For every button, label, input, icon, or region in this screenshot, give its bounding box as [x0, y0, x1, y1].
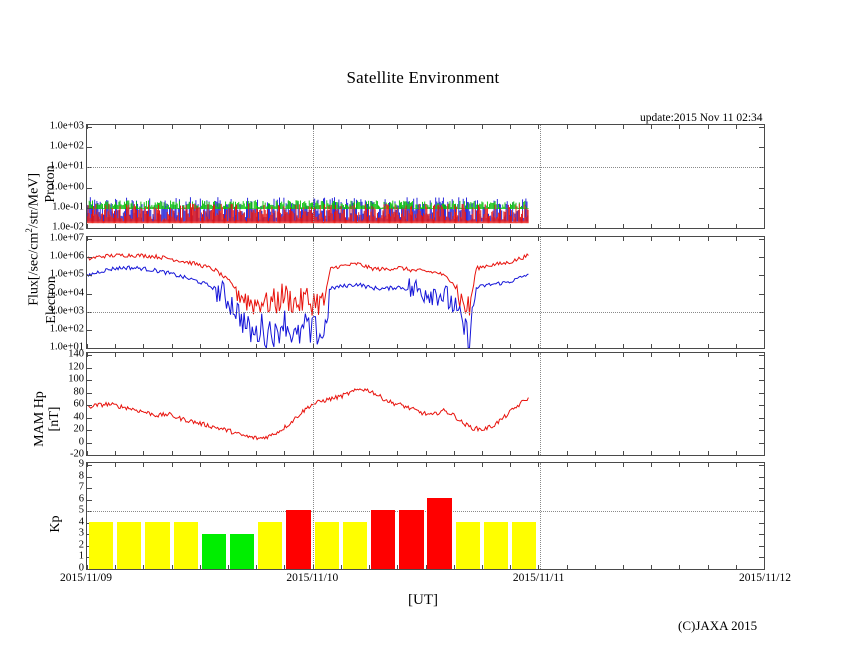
y-tick-mark: [87, 500, 92, 501]
y-tick-label: 9: [79, 459, 84, 470]
x-tick-mark: [567, 125, 568, 129]
y-tick-mark: [87, 368, 92, 369]
y-tick-label: 120: [68, 361, 84, 372]
x-tick-mark: [256, 125, 257, 129]
x-tick-mark: [426, 565, 427, 569]
flux-axis-label: Flux[/sec/cm2/str/MeV]: [24, 144, 43, 334]
x-tick-mark: [115, 353, 116, 357]
y-tick-label: 1.0e+00: [50, 181, 84, 192]
mam-axis-text: MAM Hp: [32, 391, 47, 447]
x-tick-mark: [510, 463, 511, 467]
y-tick-mark: [87, 275, 92, 276]
x-tick-mark: [200, 565, 201, 569]
x-tick-mark: [87, 344, 88, 348]
x-tick-mark: [623, 353, 624, 357]
x-tick-mark: [256, 237, 257, 241]
x-tick-mark: [454, 237, 455, 241]
x-tick-mark: [595, 353, 596, 357]
x-tick-mark: [256, 344, 257, 348]
x-tick-mark: [482, 463, 483, 467]
day-gridline: [540, 125, 541, 228]
y-tick-mark: [87, 443, 92, 444]
x-tick-mark: [341, 353, 342, 357]
x-tick-mark: [115, 451, 116, 455]
x-tick-mark: [369, 344, 370, 348]
y-tick-label: 3: [79, 528, 84, 539]
x-tick-mark: [115, 463, 116, 467]
kp-bar: [174, 522, 198, 569]
x-tick-mark: [426, 353, 427, 357]
y-tick-mark: [87, 330, 92, 331]
x-tick-mark: [679, 237, 680, 241]
y-tick-label: 1.0e-01: [52, 201, 84, 212]
x-tick-mark: [482, 125, 483, 129]
x-tick-mark: [369, 565, 370, 569]
x-tick-mark: [538, 125, 539, 129]
y-tick-label: 1.0e+02: [50, 323, 84, 334]
kp-bar: [343, 522, 367, 569]
x-tick-mark: [454, 353, 455, 357]
x-tick-mark: [426, 125, 427, 129]
x-tick-mark: [341, 565, 342, 569]
y-tick-label: 60: [74, 399, 85, 410]
x-tick-mark: [397, 344, 398, 348]
y-tick-mark: [759, 557, 764, 558]
y-tick-label: 6: [79, 493, 84, 504]
kp-bar: [145, 522, 169, 569]
x-tick-mark: [736, 565, 737, 569]
x-tick-mark: [651, 463, 652, 467]
y-tick-label: 1: [79, 551, 84, 562]
x-tick-mark: [426, 463, 427, 467]
x-tick-mark: [256, 451, 257, 455]
y-tick-mark: [759, 208, 764, 209]
x-tick-mark: [200, 353, 201, 357]
x-tick-mark: [172, 463, 173, 467]
x-tick-mark: [679, 451, 680, 455]
x-tick-mark: [87, 237, 88, 241]
x-tick-mark: [143, 224, 144, 228]
x-tick-mark: [651, 565, 652, 569]
y-tick-label: 1.0e+06: [50, 251, 84, 262]
x-tick-mark: [538, 237, 539, 241]
x-tick-mark: [708, 125, 709, 129]
x-tick-mark: [228, 224, 229, 228]
x-tick-mark: [369, 237, 370, 241]
x-tick-mark: [510, 344, 511, 348]
y-tick-label: 100: [68, 374, 84, 385]
x-tick-mark: [708, 451, 709, 455]
x-tick-mark: [256, 224, 257, 228]
mam-panel: [86, 352, 765, 456]
y-tick-mark: [759, 275, 764, 276]
x-tick-mark: [679, 344, 680, 348]
value-gridline: [87, 312, 764, 313]
x-tick-label: 2015/11/10: [286, 572, 338, 584]
x-tick-mark: [708, 463, 709, 467]
y-tick-mark: [87, 488, 92, 489]
x-tick-mark: [87, 353, 88, 357]
y-tick-mark: [759, 523, 764, 524]
x-tick-mark: [313, 565, 314, 569]
x-tick-mark: [369, 125, 370, 129]
y-tick-label: 4: [79, 516, 84, 527]
y-tick-mark: [87, 294, 92, 295]
data-trace: [87, 389, 528, 440]
flux-axis-text: Flux[/sec/cm2/str/MeV]: [26, 173, 41, 306]
x-tick-mark: [538, 451, 539, 455]
x-tick-mark: [595, 125, 596, 129]
x-tick-mark: [567, 451, 568, 455]
x-tick-mark: [313, 463, 314, 467]
copyright-notice: (C)JAXA 2015: [678, 618, 757, 634]
x-tick-mark: [736, 451, 737, 455]
x-tick-mark: [651, 125, 652, 129]
x-tick-mark: [143, 353, 144, 357]
x-tick-mark: [651, 224, 652, 228]
y-tick-mark: [87, 430, 92, 431]
x-tick-mark: [538, 344, 539, 348]
x-tick-mark: [284, 237, 285, 241]
x-tick-mark: [200, 125, 201, 129]
x-tick-mark: [482, 344, 483, 348]
x-tick-mark: [341, 125, 342, 129]
mam-axis-label: MAM Hp [nT]: [32, 364, 62, 474]
y-tick-mark: [759, 418, 764, 419]
x-tick-mark: [651, 237, 652, 241]
x-tick-mark: [454, 463, 455, 467]
x-tick-mark: [172, 344, 173, 348]
value-gridline: [87, 167, 764, 168]
x-tick-mark: [736, 353, 737, 357]
x-tick-mark: [510, 565, 511, 569]
x-tick-mark: [228, 565, 229, 569]
x-tick-mark: [736, 125, 737, 129]
x-tick-mark: [313, 353, 314, 357]
x-tick-mark: [397, 125, 398, 129]
x-tick-mark: [397, 451, 398, 455]
x-tick-mark: [567, 353, 568, 357]
x-tick-mark: [284, 451, 285, 455]
x-tick-mark: [736, 224, 737, 228]
x-tick-mark: [200, 451, 201, 455]
x-tick-mark: [623, 125, 624, 129]
x-tick-label: 2015/11/11: [513, 572, 565, 584]
x-tick-mark: [341, 344, 342, 348]
x-tick-mark: [708, 224, 709, 228]
x-tick-mark: [538, 565, 539, 569]
x-tick-mark: [256, 565, 257, 569]
y-tick-mark: [759, 405, 764, 406]
x-tick-mark: [510, 125, 511, 129]
kp-bar: [456, 522, 480, 569]
proton-panel: [86, 124, 765, 229]
x-tick-mark: [426, 224, 427, 228]
x-tick-mark: [228, 125, 229, 129]
y-tick-label: 1.0e+04: [50, 287, 84, 298]
x-tick-mark: [454, 224, 455, 228]
y-tick-label: 40: [74, 411, 85, 422]
x-tick-mark: [623, 224, 624, 228]
x-tick-mark: [595, 224, 596, 228]
y-tick-label: 1.0e+07: [50, 233, 84, 244]
kp-bar: [512, 522, 536, 569]
x-tick-mark: [736, 237, 737, 241]
x-tick-mark: [426, 237, 427, 241]
x-tick-mark: [143, 344, 144, 348]
x-tick-mark: [482, 565, 483, 569]
x-tick-mark: [143, 451, 144, 455]
kp-bar: [399, 510, 423, 569]
x-tick-mark: [143, 565, 144, 569]
x-tick-mark: [143, 463, 144, 467]
x-tick-mark: [651, 344, 652, 348]
y-tick-mark: [759, 546, 764, 547]
x-tick-mark: [482, 353, 483, 357]
x-tick-mark: [651, 353, 652, 357]
x-tick-mark: [538, 224, 539, 228]
y-tick-label: 7: [79, 482, 84, 493]
x-tick-mark: [284, 125, 285, 129]
x-tick-mark: [313, 125, 314, 129]
y-tick-label: 20: [74, 424, 85, 435]
y-tick-mark: [87, 147, 92, 148]
y-tick-label: 1.0e+02: [50, 141, 84, 152]
x-tick-mark: [510, 237, 511, 241]
y-tick-label: 80: [74, 386, 85, 397]
y-tick-mark: [759, 393, 764, 394]
x-tick-mark: [172, 451, 173, 455]
x-tick-mark: [679, 224, 680, 228]
kp-bar: [484, 522, 508, 569]
x-tick-mark: [115, 344, 116, 348]
y-tick-label: 2: [79, 539, 84, 550]
x-tick-mark: [341, 463, 342, 467]
x-tick-mark: [200, 224, 201, 228]
x-tick-mark: [708, 565, 709, 569]
kp-axis-label: Kp: [48, 504, 64, 544]
y-tick-mark: [759, 534, 764, 535]
y-tick-label: 1.0e+01: [50, 161, 84, 172]
y-tick-mark: [87, 380, 92, 381]
y-tick-mark: [759, 294, 764, 295]
x-tick-mark: [200, 344, 201, 348]
x-tick-mark: [284, 224, 285, 228]
y-tick-mark: [759, 368, 764, 369]
plot-canvas: [87, 353, 764, 455]
y-tick-mark: [759, 257, 764, 258]
y-tick-label: 8: [79, 470, 84, 481]
x-tick-mark: [87, 463, 88, 467]
kp-bar: [230, 534, 254, 569]
y-tick-label: 0: [79, 436, 84, 447]
y-tick-mark: [87, 393, 92, 394]
x-tick-mark: [200, 463, 201, 467]
update-timestamp: update:2015 Nov 11 02:34: [640, 112, 763, 124]
x-tick-mark: [200, 237, 201, 241]
kp-panel: [86, 462, 765, 570]
x-tick-mark: [143, 125, 144, 129]
kp-bar: [117, 522, 141, 569]
x-tick-mark: [284, 353, 285, 357]
x-tick-mark: [538, 463, 539, 467]
y-tick-mark: [759, 488, 764, 489]
x-tick-mark: [369, 451, 370, 455]
x-tick-mark: [651, 451, 652, 455]
x-tick-mark: [284, 344, 285, 348]
y-tick-label: 1.0e+03: [50, 121, 84, 132]
x-tick-mark: [482, 224, 483, 228]
x-tick-mark: [284, 565, 285, 569]
x-tick-mark: [115, 125, 116, 129]
x-tick-mark: [228, 451, 229, 455]
x-tick-mark: [397, 565, 398, 569]
day-gridline: [313, 237, 314, 348]
x-tick-mark: [228, 353, 229, 357]
x-tick-mark: [87, 451, 88, 455]
y-tick-label: 140: [68, 349, 84, 360]
x-tick-mark: [313, 344, 314, 348]
day-gridline: [540, 237, 541, 348]
plot-canvas: [87, 237, 764, 348]
x-tick-mark: [228, 463, 229, 467]
x-tick-mark: [341, 237, 342, 241]
x-tick-mark: [426, 451, 427, 455]
x-tick-mark: [228, 344, 229, 348]
y-tick-mark: [759, 188, 764, 189]
x-tick-mark: [482, 451, 483, 455]
x-tick-mark: [679, 353, 680, 357]
y-tick-mark: [759, 500, 764, 501]
x-tick-mark: [256, 463, 257, 467]
x-tick-mark: [567, 224, 568, 228]
x-tick-label: 2015/11/09: [60, 572, 112, 584]
x-tick-mark: [567, 463, 568, 467]
x-tick-mark: [369, 353, 370, 357]
x-tick-mark: [623, 451, 624, 455]
x-tick-mark: [595, 463, 596, 467]
satellite-environment-plot: Satellite Environment update:2015 Nov 11…: [0, 0, 846, 655]
x-tick-mark: [567, 344, 568, 348]
day-gridline: [540, 353, 541, 455]
day-gridline: [540, 463, 541, 569]
x-tick-mark: [172, 125, 173, 129]
mam-unit-text: [nT]: [47, 407, 62, 432]
x-tick-mark: [313, 224, 314, 228]
x-tick-mark: [708, 237, 709, 241]
kp-bar: [427, 498, 451, 569]
x-tick-mark: [172, 565, 173, 569]
y-tick-label: 5: [79, 505, 84, 516]
x-tick-mark: [426, 344, 427, 348]
y-tick-mark: [87, 188, 92, 189]
x-tick-mark: [143, 237, 144, 241]
x-tick-mark: [538, 353, 539, 357]
x-tick-mark: [567, 237, 568, 241]
x-tick-mark: [679, 125, 680, 129]
x-tick-mark: [172, 224, 173, 228]
y-tick-mark: [759, 330, 764, 331]
y-tick-mark: [87, 405, 92, 406]
x-tick-mark: [454, 451, 455, 455]
kp-bar: [371, 510, 395, 569]
x-tick-mark: [679, 463, 680, 467]
x-tick-mark: [708, 344, 709, 348]
y-tick-mark: [87, 257, 92, 258]
kp-bar: [315, 522, 339, 569]
y-tick-mark: [87, 208, 92, 209]
x-tick-mark: [454, 344, 455, 348]
x-tick-mark: [595, 565, 596, 569]
x-tick-mark: [115, 237, 116, 241]
x-tick-mark: [256, 353, 257, 357]
kp-bar: [89, 522, 113, 569]
x-tick-mark: [623, 565, 624, 569]
x-axis-label: [UT]: [0, 592, 846, 609]
x-tick-mark: [341, 224, 342, 228]
x-tick-mark: [87, 224, 88, 228]
x-tick-mark: [567, 565, 568, 569]
data-trace: [87, 254, 528, 316]
y-tick-mark: [759, 380, 764, 381]
x-tick-mark: [595, 451, 596, 455]
x-tick-label: 2015/11/12: [739, 572, 791, 584]
x-tick-mark: [510, 451, 511, 455]
x-tick-mark: [313, 237, 314, 241]
x-tick-mark: [397, 463, 398, 467]
kp-bar: [202, 534, 226, 569]
x-tick-mark: [595, 344, 596, 348]
day-gridline: [313, 353, 314, 455]
x-tick-mark: [172, 353, 173, 357]
kp-bar: [258, 522, 282, 569]
x-tick-mark: [623, 344, 624, 348]
x-tick-mark: [397, 224, 398, 228]
x-tick-mark: [313, 451, 314, 455]
x-tick-mark: [115, 565, 116, 569]
x-tick-mark: [397, 353, 398, 357]
page-title: Satellite Environment: [0, 68, 846, 88]
y-tick-label: 1.0e-02: [52, 222, 84, 233]
x-tick-mark: [369, 224, 370, 228]
day-gridline: [313, 125, 314, 228]
kp-bar: [286, 510, 310, 569]
y-tick-label: 1.0e+05: [50, 269, 84, 280]
y-tick-mark: [759, 147, 764, 148]
x-tick-mark: [115, 224, 116, 228]
x-tick-mark: [172, 237, 173, 241]
x-tick-mark: [623, 237, 624, 241]
electron-panel: [86, 236, 765, 349]
x-tick-mark: [87, 125, 88, 129]
y-tick-mark: [759, 477, 764, 478]
x-tick-mark: [595, 237, 596, 241]
x-tick-mark: [708, 353, 709, 357]
y-tick-label: 1.0e+03: [50, 305, 84, 316]
x-tick-mark: [679, 565, 680, 569]
data-trace: [87, 266, 528, 348]
y-tick-mark: [87, 418, 92, 419]
y-tick-mark: [759, 443, 764, 444]
x-tick-mark: [341, 451, 342, 455]
y-tick-mark: [759, 430, 764, 431]
x-tick-mark: [397, 237, 398, 241]
x-tick-mark: [736, 344, 737, 348]
x-tick-mark: [454, 125, 455, 129]
x-tick-mark: [510, 353, 511, 357]
x-tick-mark: [623, 463, 624, 467]
plot-canvas: [87, 125, 764, 228]
